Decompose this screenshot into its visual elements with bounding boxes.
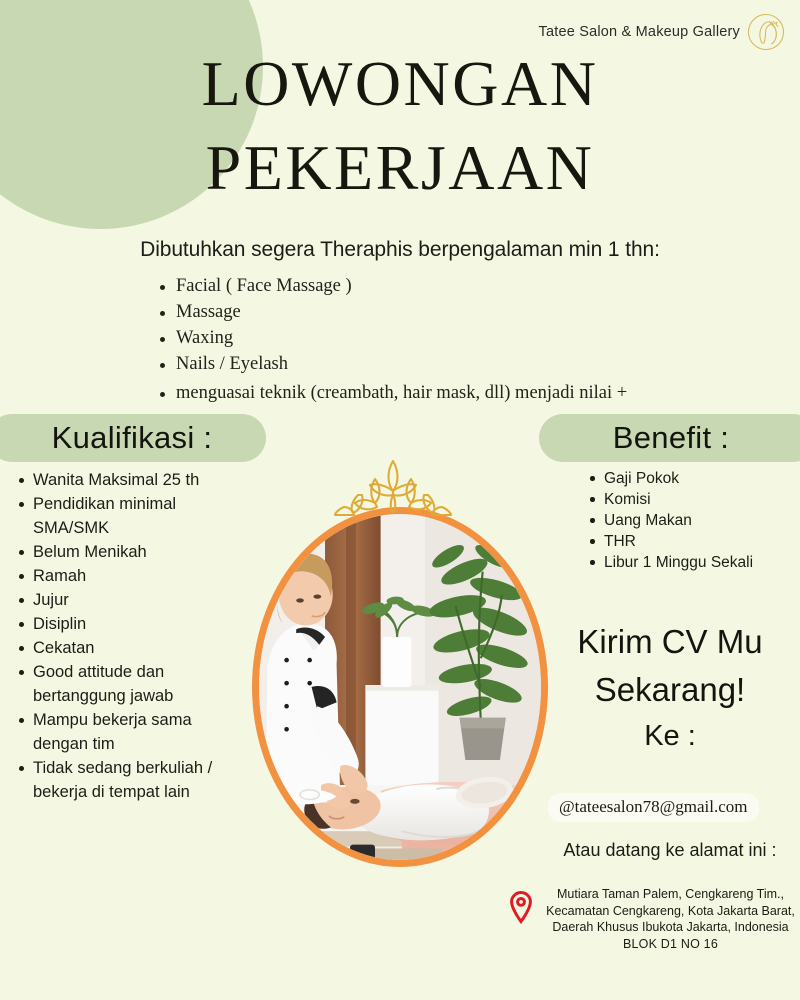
qualifications-list: Wanita Maksimal 25 th Pendidikan minimal… <box>16 468 251 804</box>
job-vacancy-poster: Tatee Salon & Makeup Gallery LOWONGAN PE… <box>0 0 800 1000</box>
list-item: Waxing <box>160 327 627 351</box>
gold-tiara-ornament-icon <box>330 455 456 517</box>
contact-email[interactable]: @tateesalon78@gmail.com <box>548 793 759 822</box>
benefit-heading-label: Benefit : <box>613 420 729 456</box>
address-intro: Atau datang ke alamat ini : <box>540 840 800 861</box>
subtitle: Dibutuhkan segera Theraphis berpengalama… <box>0 238 800 262</box>
list-item: Belum Menikah <box>16 540 251 564</box>
call-to-action: Kirim CV Mu Sekarang! Ke : <box>540 618 800 758</box>
list-item: Gaji Pokok <box>588 468 798 489</box>
cta-line-1: Kirim CV Mu <box>540 618 800 666</box>
list-item: Wanita Maksimal 25 th <box>16 468 251 492</box>
list-item: Cekatan <box>16 636 251 660</box>
address-line-4: BLOK D1 NO 16 <box>541 936 800 953</box>
qualifications-heading-label: Kualifikasi : <box>52 420 213 456</box>
benefit-list: Gaji Pokok Komisi Uang Makan THR Libur 1… <box>588 468 798 573</box>
list-item: Massage <box>160 301 627 325</box>
list-item: Nails / Eyelash <box>160 353 627 377</box>
address-text: Mutiara Taman Palem, Cengkareng Tim., Ke… <box>541 886 800 952</box>
cta-line-3: Ke : <box>540 714 800 758</box>
cta-line-2: Sekarang! <box>540 666 800 714</box>
roles-list: Facial ( Face Massage ) Massage Waxing N… <box>160 275 627 408</box>
list-item: menguasai teknik (creambath, hair mask, … <box>160 382 627 406</box>
list-item: Pendidikan minimal SMA/SMK <box>16 492 251 540</box>
headline-line-2: PEKERJAAN <box>0 126 800 210</box>
page-title: LOWONGAN PEKERJAAN <box>0 42 800 210</box>
brand-name: Tatee Salon & Makeup Gallery <box>539 24 740 40</box>
address-block: Mutiara Taman Palem, Cengkareng Tim., Ke… <box>508 886 800 952</box>
headline-line-1: LOWONGAN <box>0 42 800 126</box>
list-item: Uang Makan <box>588 510 798 531</box>
address-line-2: Kecamatan Cengkareng, Kota Jakarta Barat… <box>541 903 800 920</box>
list-item: Ramah <box>16 564 251 588</box>
list-item: Komisi <box>588 489 798 510</box>
list-item: Facial ( Face Massage ) <box>160 275 627 299</box>
list-item: Libur 1 Minggu Sekali <box>588 552 798 573</box>
list-item: Jujur <box>16 588 251 612</box>
address-line-3: Daerah Khusus Ibukota Jakarta, Indonesia <box>541 919 800 936</box>
benefit-heading: Benefit : <box>539 414 800 462</box>
list-item: THR <box>588 531 798 552</box>
list-item: Tidak sedang berkuliah / bekerja di temp… <box>16 756 251 804</box>
list-item: Mampu bekerja sama dengan tim <box>16 708 251 756</box>
list-item: Good attitude dan bertanggung jawab <box>16 660 251 708</box>
list-item: Disiplin <box>16 612 251 636</box>
salon-treatment-photo <box>252 507 548 867</box>
address-line-1: Mutiara Taman Palem, Cengkareng Tim., <box>541 886 800 903</box>
photo-inner <box>259 514 541 860</box>
qualifications-heading: Kualifikasi : <box>0 414 266 462</box>
location-pin-icon <box>508 890 534 924</box>
